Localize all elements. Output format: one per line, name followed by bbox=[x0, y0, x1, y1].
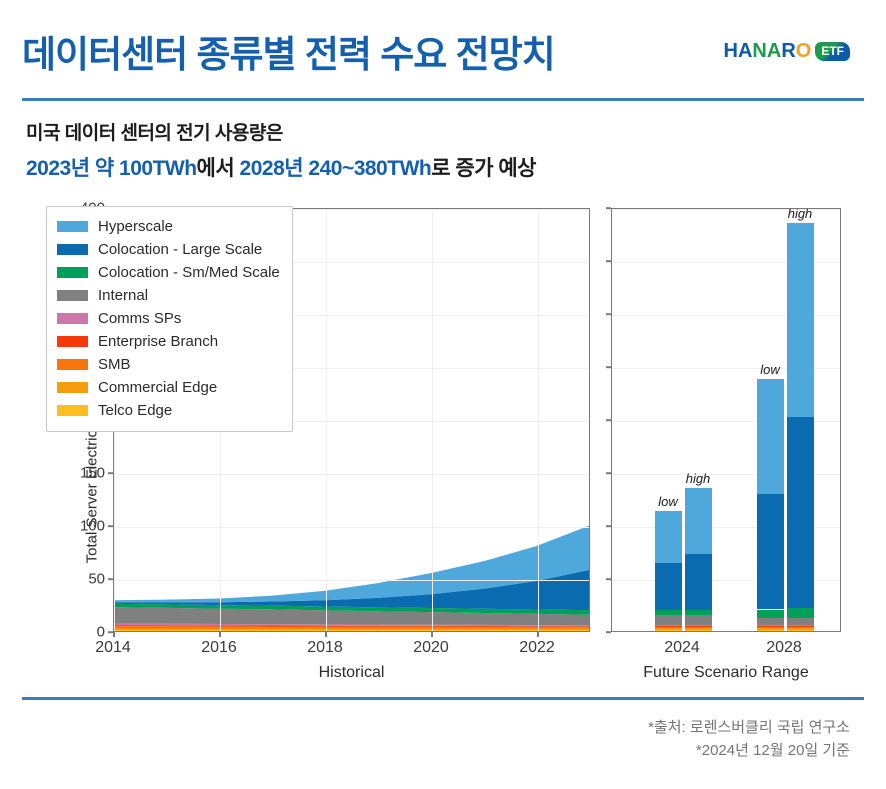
legend-swatch-icon bbox=[57, 313, 88, 324]
bar-segment-smb bbox=[787, 627, 814, 628]
y-tick-label: 100 bbox=[80, 518, 105, 535]
legend-item-label: Enterprise Branch bbox=[98, 333, 218, 350]
subtitle-line-2: 2023년 약 100TWh에서 2028년 240~380TWh로 증가 예상 bbox=[26, 152, 826, 182]
bar-segment-internal bbox=[685, 615, 712, 625]
subtitle-connector-2: 로 증가 예상 bbox=[431, 157, 536, 180]
legend-item[interactable]: Hyperscale bbox=[57, 215, 280, 238]
legend-item-label: Comms SPs bbox=[98, 310, 181, 327]
footnote-asof: *2024년 12월 20일 기준 bbox=[648, 739, 850, 762]
bar-segment-colocation-sm-med-scale bbox=[757, 610, 784, 618]
bar-segment-colocation-large-scale bbox=[757, 494, 784, 609]
x-tick-mark bbox=[537, 632, 539, 637]
subtitle-line-1: 미국 데이터 센터의 전기 사용량은 bbox=[26, 118, 826, 145]
area-series-commercial-edge bbox=[114, 628, 589, 629]
legend-item-label: Hyperscale bbox=[98, 218, 173, 235]
vertical-gridline bbox=[432, 209, 433, 631]
legend-swatch-icon bbox=[57, 267, 88, 278]
brand-text-o: O bbox=[796, 41, 812, 61]
brand-text-na: NA bbox=[752, 41, 781, 61]
bar-segment-hyperscale bbox=[787, 223, 814, 417]
bar-segment-internal bbox=[655, 615, 682, 625]
bar-segment-internal bbox=[757, 618, 784, 625]
bar-segment-colocation-sm-med-scale bbox=[787, 608, 814, 618]
legend-item-label: Colocation - Sm/Med Scale bbox=[98, 264, 280, 281]
bar-2024-high[interactable] bbox=[685, 488, 712, 631]
bar-segment-hyperscale bbox=[685, 488, 712, 554]
bar-segment-enterprise-branch bbox=[655, 626, 682, 627]
header-divider bbox=[22, 98, 864, 101]
page-title: 데이터센터 종류별 전력 수요 전망치 bbox=[22, 24, 555, 78]
y-tick-label: 50 bbox=[88, 571, 105, 588]
vertical-gridline bbox=[326, 209, 327, 631]
bar-segment-comms-sps bbox=[757, 625, 784, 626]
footnotes: *출처: 로렌스버클리 국립 연구소 *2024년 12월 20일 기준 bbox=[648, 716, 850, 763]
legend-item-label: Telco Edge bbox=[98, 402, 172, 419]
legend-swatch-icon bbox=[57, 244, 88, 255]
legend-swatch-icon bbox=[57, 359, 88, 370]
bar-segment-telco-edge bbox=[685, 630, 712, 631]
y-axis-right-ticks bbox=[597, 208, 611, 632]
x-axis-title: Historical bbox=[319, 664, 385, 682]
legend-item[interactable]: Comms SPs bbox=[57, 307, 280, 330]
bar-segment-smb bbox=[757, 627, 784, 628]
bar-segment-smb bbox=[655, 627, 682, 628]
subtitle-highlight-2028: 2028년 240~380TWh bbox=[240, 157, 432, 180]
brand-text-r: R bbox=[781, 41, 795, 61]
legend-swatch-icon bbox=[57, 221, 88, 232]
vertical-gridline bbox=[538, 209, 539, 631]
legend-item-label: Colocation - Large Scale bbox=[98, 241, 262, 258]
legend-item-label: SMB bbox=[98, 356, 131, 373]
bar-segment-colocation-large-scale bbox=[655, 563, 682, 610]
bar-scenario-label: high bbox=[686, 471, 711, 486]
x-tick-label: 2020 bbox=[413, 639, 449, 657]
x-group-label: 2028 bbox=[766, 639, 802, 657]
hanaro-etf-logo: HA NA R O ETF bbox=[724, 38, 850, 64]
bar-scenario-label: low bbox=[658, 494, 678, 509]
bar-segment-internal bbox=[787, 618, 814, 625]
legend-item[interactable]: Telco Edge bbox=[57, 399, 280, 422]
x-axis-historical: 20142016201820202022Historical bbox=[113, 632, 590, 692]
bar-2028-high[interactable] bbox=[787, 223, 814, 631]
legend-swatch-icon bbox=[57, 290, 88, 301]
bar-segment-commercial-edge bbox=[685, 628, 712, 630]
legend-item[interactable]: Colocation - Sm/Med Scale bbox=[57, 261, 280, 284]
bar-segment-enterprise-branch bbox=[757, 626, 784, 627]
bar-scenario-label: high bbox=[788, 209, 813, 221]
x-tick-label: 2014 bbox=[95, 639, 131, 657]
bar-segment-telco-edge bbox=[757, 630, 784, 631]
bar-segment-colocation-sm-med-scale bbox=[685, 610, 712, 615]
gridline bbox=[114, 580, 589, 581]
gridline bbox=[114, 474, 589, 475]
bar-segment-colocation-sm-med-scale bbox=[655, 610, 682, 615]
gridline bbox=[114, 527, 589, 528]
x-axis-title: Future Scenario Range bbox=[643, 664, 808, 682]
bar-segment-telco-edge bbox=[655, 630, 682, 631]
legend-item[interactable]: Commercial Edge bbox=[57, 376, 280, 399]
x-axis-future: 20242028Future Scenario Range bbox=[611, 632, 841, 692]
bar-segment-hyperscale bbox=[757, 379, 784, 495]
subtitle-connector-1: 에서 bbox=[197, 157, 240, 180]
legend-swatch-icon bbox=[57, 382, 88, 393]
bar-segment-colocation-large-scale bbox=[685, 554, 712, 610]
legend-item-label: Commercial Edge bbox=[98, 379, 217, 396]
x-tick-label: 2018 bbox=[307, 639, 343, 657]
bar-segment-comms-sps bbox=[685, 625, 712, 626]
x-tick-mark bbox=[219, 632, 221, 637]
bar-scenario-label: low bbox=[760, 362, 780, 377]
legend-item[interactable]: Colocation - Large Scale bbox=[57, 238, 280, 261]
subtitle-highlight-2023: 2023년 약 100TWh bbox=[26, 157, 197, 180]
x-tick-label: 2016 bbox=[201, 639, 237, 657]
etf-badge: ETF bbox=[815, 42, 850, 61]
legend-swatch-icon bbox=[57, 405, 88, 416]
bar-2024-low[interactable] bbox=[655, 511, 682, 631]
legend-item-label: Internal bbox=[98, 287, 148, 304]
subtitle-block: 미국 데이터 센터의 전기 사용량은 2023년 약 100TWh에서 2028… bbox=[26, 118, 826, 182]
legend-item[interactable]: Internal bbox=[57, 284, 280, 307]
legend-item[interactable]: Enterprise Branch bbox=[57, 330, 280, 353]
x-tick-mark bbox=[431, 632, 433, 637]
brand-text-ha: HA bbox=[724, 41, 753, 61]
bar-segment-comms-sps bbox=[787, 625, 814, 626]
chart-legend: HyperscaleColocation - Large ScaleColoca… bbox=[46, 206, 293, 432]
x-group-label: 2024 bbox=[664, 639, 700, 657]
legend-item[interactable]: SMB bbox=[57, 353, 280, 376]
bar-segment-commercial-edge bbox=[655, 628, 682, 630]
area-series-telco-edge bbox=[114, 630, 589, 631]
page-header: 데이터센터 종류별 전력 수요 전망치 HA NA R O ETF bbox=[0, 0, 886, 100]
bar-segment-colocation-large-scale bbox=[787, 417, 814, 608]
bar-2028-low[interactable] bbox=[757, 379, 784, 631]
bar-segment-comms-sps bbox=[655, 625, 682, 626]
bar-segment-smb bbox=[685, 627, 712, 628]
bar-segment-enterprise-branch bbox=[787, 626, 814, 627]
future-scenario-panel: lowhighlowhigh bbox=[611, 208, 841, 632]
bar-segment-enterprise-branch bbox=[685, 626, 712, 627]
bar-segment-commercial-edge bbox=[757, 628, 784, 630]
future-plot-area: lowhighlowhigh bbox=[612, 209, 840, 631]
bar-segment-commercial-edge bbox=[787, 628, 814, 630]
x-tick-label: 2022 bbox=[519, 639, 555, 657]
x-tick-mark bbox=[113, 632, 115, 637]
bar-segment-hyperscale bbox=[655, 511, 682, 563]
bar-segment-telco-edge bbox=[787, 630, 814, 631]
y-tick-label: 0 bbox=[97, 624, 105, 641]
footer-divider bbox=[22, 697, 864, 700]
x-tick-mark bbox=[325, 632, 327, 637]
chart-figure: Total Server Electricity Consumption (TW… bbox=[0, 196, 886, 686]
legend-swatch-icon bbox=[57, 336, 88, 347]
y-tick-label: 150 bbox=[80, 465, 105, 482]
footnote-source: *출처: 로렌스버클리 국립 연구소 bbox=[648, 716, 850, 739]
